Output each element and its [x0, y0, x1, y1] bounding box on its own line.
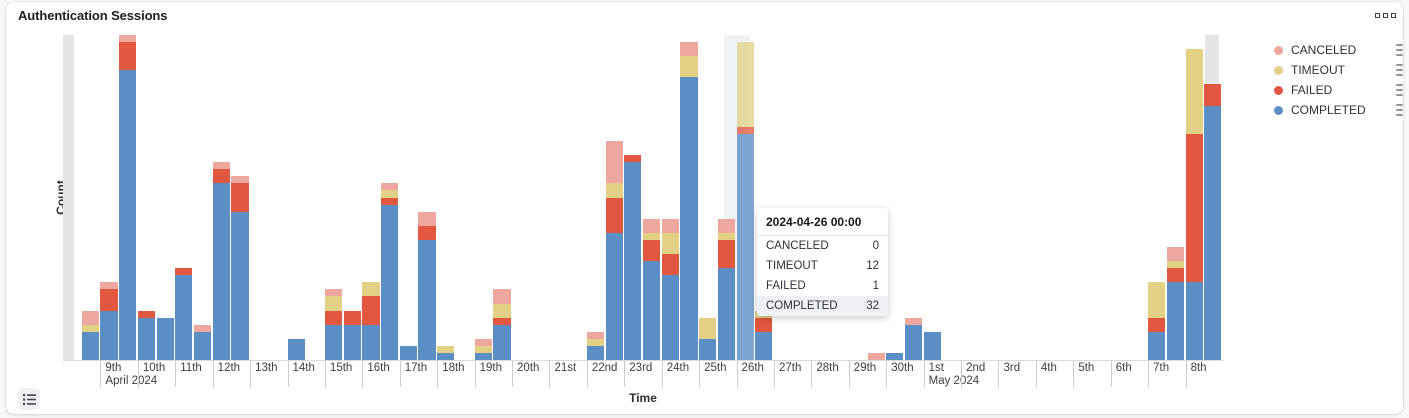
menu-square-1 — [1375, 13, 1380, 18]
bar-stack[interactable] — [624, 155, 641, 360]
bar-segment-failed — [643, 240, 660, 261]
x-tick-4th: 4th — [1036, 361, 1057, 387]
bar-segment-timeout — [381, 190, 398, 197]
x-tick-day: 2nd — [966, 361, 985, 375]
bar-segment-timeout — [493, 304, 510, 318]
x-axis-label: Time — [63, 391, 1223, 405]
bar-segment-completed — [1148, 332, 1165, 360]
bar-segment-canceled — [587, 332, 604, 339]
bar-segment-canceled — [418, 212, 435, 226]
bar-segment-timeout — [475, 346, 492, 353]
x-tick-day: 20th — [517, 361, 539, 375]
bar-segment-timeout — [587, 339, 604, 346]
bar-segment-failed — [755, 318, 772, 332]
bar-stack[interactable] — [699, 318, 716, 360]
x-tick-10th: 10th — [138, 361, 165, 387]
bar-stack[interactable] — [344, 311, 361, 360]
bar-stack[interactable] — [755, 311, 772, 360]
bar-segment-completed — [475, 353, 492, 360]
bar-stack[interactable] — [587, 332, 604, 360]
bar-segment-timeout — [737, 42, 754, 127]
x-tick-18th: 18th — [437, 361, 464, 387]
bar-segment-completed — [924, 332, 941, 360]
legend-item-failed[interactable]: FAILED — [1274, 80, 1403, 100]
tooltip-row-label: COMPLETED — [766, 298, 838, 314]
panel-menu-icon[interactable] — [1372, 6, 1398, 24]
bar-segment-canceled — [606, 141, 623, 183]
bar-segment-timeout — [718, 233, 735, 240]
bar-segment-failed — [175, 268, 192, 275]
bar-segment-completed — [587, 346, 604, 360]
bar-segment-failed — [1148, 318, 1165, 332]
legend-drag-handle-icon[interactable] — [1394, 104, 1403, 116]
x-tick-29th: 29th — [849, 361, 876, 387]
x-tick-day: 25th — [704, 361, 726, 375]
bar-segment-timeout — [1167, 261, 1184, 268]
bar-segment-completed — [157, 318, 174, 360]
bar-stack[interactable] — [905, 318, 922, 360]
bar-segment-completed — [493, 325, 510, 360]
bar-stack[interactable] — [886, 353, 903, 360]
x-tick-day: 13th — [255, 361, 277, 375]
bar-segment-completed — [100, 311, 117, 360]
x-tick-day: 5th — [1078, 361, 1094, 375]
bar-segment-canceled — [643, 219, 660, 233]
bar-segment-failed — [362, 296, 379, 324]
bar-segment-completed — [381, 205, 398, 360]
bar-segment-completed — [138, 318, 155, 360]
legend-color-dot — [1274, 66, 1283, 75]
x-tick-15th: 15th — [325, 361, 352, 387]
bar-stack[interactable] — [475, 339, 492, 360]
legend-item-label: TIMEOUT — [1291, 63, 1394, 77]
x-tick-day: 29th — [854, 361, 876, 375]
bar-segment-timeout — [362, 282, 379, 296]
x-tick-day: 18th — [442, 361, 464, 375]
bar-segment-canceled — [475, 339, 492, 346]
bar-segment-canceled — [493, 289, 510, 303]
bar-segment-completed — [119, 70, 136, 360]
x-tick-7th: 7th — [1148, 361, 1169, 387]
bar-segment-completed — [418, 240, 435, 360]
legend[interactable]: CANCELEDTIMEOUTFAILEDCOMPLETED — [1274, 40, 1403, 120]
bar-stack[interactable] — [868, 353, 885, 360]
bar-stack[interactable] — [138, 311, 155, 360]
bar-stack[interactable] — [213, 162, 230, 360]
x-tick-6th: 6th — [1111, 361, 1132, 387]
x-tick-23rd: 23rd — [624, 361, 652, 387]
x-tick-day: 16th — [367, 361, 389, 375]
bar-stack[interactable] — [400, 346, 417, 360]
bar-segment-timeout — [606, 183, 623, 197]
tooltip-row-canceled: CANCELED0 — [757, 236, 888, 256]
x-tick-12th: 12th — [213, 361, 240, 387]
x-tick-21st: 21st — [549, 361, 576, 387]
x-tick-3rd: 3rd — [998, 361, 1020, 387]
bar-segment-canceled — [100, 282, 117, 289]
x-tick-17th: 17th — [400, 361, 427, 387]
bar-segment-canceled — [662, 219, 679, 233]
menu-square-3 — [1391, 13, 1396, 18]
bar-stack[interactable] — [1204, 84, 1221, 360]
x-tick-day: 28th — [816, 361, 838, 375]
plot-area[interactable] — [63, 35, 1223, 360]
bar-stack[interactable] — [175, 268, 192, 360]
legend-drag-handle-icon[interactable] — [1394, 84, 1403, 96]
legend-item-canceled[interactable]: CANCELED — [1274, 40, 1403, 60]
legend-drag-handle-icon[interactable] — [1394, 44, 1403, 56]
x-tick-8th: 8th — [1186, 361, 1207, 387]
x-tick-day: 14th — [293, 361, 315, 375]
bar-segment-completed — [231, 212, 248, 360]
tooltip-row-completed: COMPLETED32 — [757, 296, 888, 316]
x-tick-5th: 5th — [1073, 361, 1094, 387]
bar-segment-failed — [138, 311, 155, 318]
bar-segment-completed — [1167, 282, 1184, 360]
tooltip-row-label: CANCELED — [766, 238, 829, 254]
bar-stack[interactable] — [606, 141, 623, 360]
bar-segment-failed — [1204, 84, 1221, 105]
bar-segment-canceled — [905, 318, 922, 325]
bar-segment-canceled — [325, 289, 342, 296]
bar-segment-completed — [662, 275, 679, 360]
bar-stack[interactable] — [662, 219, 679, 360]
x-tick-24th: 24th — [662, 361, 689, 387]
bar-segment-completed — [82, 332, 99, 360]
bar-segment-timeout — [643, 233, 660, 240]
x-tick-day: 4th — [1041, 361, 1057, 375]
x-tick-day: 8th — [1191, 361, 1207, 375]
x-tick-day: 21st — [554, 361, 576, 375]
bar-segment-canceled — [718, 219, 735, 233]
x-tick-20th: 20th — [512, 361, 539, 387]
x-tick-27th: 27th — [774, 361, 801, 387]
bar-stack[interactable] — [362, 282, 379, 360]
bar-segment-completed — [606, 233, 623, 360]
bar-stack[interactable] — [82, 311, 99, 360]
x-tick-day: 17th — [405, 361, 427, 375]
bar-segment-canceled — [231, 176, 248, 183]
tooltip-row-value: 32 — [866, 298, 879, 314]
bar-segment-failed — [1167, 268, 1184, 282]
bar-segment-completed — [288, 339, 305, 360]
tooltip-title: 2024-04-26 00:00 — [757, 208, 888, 236]
bar-segment-completed — [194, 332, 211, 360]
legend-item-completed[interactable]: COMPLETED — [1274, 100, 1403, 120]
bar-segment-completed — [680, 77, 697, 360]
left-no-data-band — [63, 35, 74, 360]
legend-color-dot — [1274, 86, 1283, 95]
legend-drag-handle-icon[interactable] — [1394, 64, 1403, 76]
bar-stack[interactable] — [437, 346, 454, 360]
bar-segment-completed — [362, 325, 379, 360]
tooltip-row-failed: FAILED1 — [757, 276, 888, 296]
x-tick-2nd: 2nd — [961, 361, 985, 387]
legend-item-label: FAILED — [1291, 83, 1394, 97]
bar-segment-failed — [325, 311, 342, 325]
tooltip-row-value: 1 — [873, 278, 879, 294]
bar-segment-canceled — [213, 162, 230, 169]
bar-stack[interactable] — [737, 42, 754, 360]
tooltip-row-value: 0 — [873, 238, 879, 254]
bar-segment-completed — [905, 325, 922, 360]
bar-segment-failed — [718, 240, 735, 268]
bar-segment-failed — [493, 318, 510, 325]
bar-segment-canceled — [194, 325, 211, 332]
bar-segment-timeout — [82, 325, 99, 332]
bar-segment-failed — [119, 42, 136, 70]
bar-segment-timeout — [325, 296, 342, 310]
bar-segment-completed — [400, 346, 417, 360]
panel-title: Authentication Sessions — [18, 8, 167, 23]
bar-segment-canceled — [119, 35, 136, 42]
x-tick-day: 10th — [143, 361, 165, 375]
x-tick-day: 24th — [667, 361, 689, 375]
bar-stack[interactable] — [418, 212, 435, 360]
bar-stack[interactable] — [194, 325, 211, 360]
bar-segment-completed — [325, 325, 342, 360]
legend-color-dot — [1274, 46, 1283, 55]
bar-segment-timeout — [1148, 282, 1165, 317]
bar-segment-completed — [699, 339, 716, 360]
bar-segment-completed — [643, 261, 660, 360]
x-tick-day: 30th — [891, 361, 913, 375]
menu-square-2 — [1383, 13, 1388, 18]
x-tick-28th: 28th — [811, 361, 838, 387]
bar-stack[interactable] — [680, 42, 697, 360]
x-tick-19th: 19th — [475, 361, 502, 387]
bar-segment-failed — [1186, 134, 1203, 282]
bar-segment-failed — [381, 198, 398, 205]
bar-stack[interactable] — [924, 332, 941, 360]
x-tick-13th: 13th — [250, 361, 277, 387]
x-tick-day: 6th — [1116, 361, 1132, 375]
x-tick-day: 22nd — [592, 361, 618, 375]
bar-segment-completed — [886, 353, 903, 360]
bar-segment-completed — [755, 332, 772, 360]
bar-segment-failed — [100, 289, 117, 310]
bar-segment-completed — [1186, 282, 1203, 360]
bar-stack[interactable] — [1167, 247, 1184, 360]
bar-segment-failed — [624, 155, 641, 162]
x-tick-day: 11th — [180, 361, 202, 375]
tooltip-row-label: FAILED — [766, 278, 806, 294]
x-tick-day: 7th — [1153, 361, 1169, 375]
x-tick-day: 27th — [779, 361, 801, 375]
bar-segment-canceled — [868, 353, 885, 360]
bar-segment-failed — [344, 311, 361, 325]
bar-segment-failed — [662, 254, 679, 275]
x-tick-22nd: 22nd — [587, 361, 618, 387]
x-tick-day: 23rd — [629, 361, 652, 375]
bar-segment-timeout — [1186, 49, 1203, 134]
bar-stack[interactable] — [119, 35, 136, 360]
x-tick-14th: 14th — [288, 361, 315, 387]
x-axis-ticks: 9thApril 202410th11th12th13th14th15th16t… — [63, 361, 1223, 393]
bar-stack[interactable] — [100, 282, 117, 360]
x-tick-day: 3rd — [1003, 361, 1020, 375]
tooltip-row-timeout: TIMEOUT12 — [757, 256, 888, 276]
bar-segment-failed — [231, 183, 248, 211]
tooltip-rows: CANCELED0TIMEOUT12FAILED1COMPLETED32 — [757, 236, 888, 316]
bar-stack[interactable] — [325, 289, 342, 360]
screenshot-root: Authentication Sessions Count 9thApril 2… — [0, 0, 1409, 418]
bar-segment-completed — [718, 268, 735, 360]
x-tick-day: 15th — [330, 361, 352, 375]
legend-color-dot — [1274, 106, 1283, 115]
list-view-icon[interactable] — [18, 388, 40, 410]
tooltip-row-label: TIMEOUT — [766, 258, 818, 274]
bar-segment-completed — [437, 353, 454, 360]
bar-segment-completed — [624, 162, 641, 360]
legend-item-label: COMPLETED — [1291, 103, 1394, 117]
bar-stack[interactable] — [157, 318, 174, 360]
x-tick-26th: 26th — [737, 361, 764, 387]
bar-segment-canceled — [1167, 247, 1184, 261]
bar-stack[interactable] — [1148, 282, 1165, 360]
bar-segment-completed — [344, 325, 361, 360]
bar-stack[interactable] — [1186, 49, 1203, 360]
bar-segment-canceled — [82, 311, 99, 325]
x-tick-16th: 16th — [362, 361, 389, 387]
bar-stack[interactable] — [288, 339, 305, 360]
bar-stack[interactable] — [231, 176, 248, 360]
x-tick-day: 19th — [480, 361, 502, 375]
bar-segment-failed — [213, 169, 230, 183]
y-axis-label-wrap: Count — [36, 35, 58, 360]
bar-segment-completed — [1204, 106, 1221, 360]
bar-segment-completed — [175, 275, 192, 360]
bar-stack[interactable] — [643, 219, 660, 360]
bar-stack[interactable] — [381, 183, 398, 360]
bar-segment-timeout — [437, 346, 454, 353]
bar-segment-canceled — [381, 183, 398, 190]
x-tick-30th: 30th — [886, 361, 913, 387]
chart-panel: Authentication Sessions Count 9thApril 2… — [6, 2, 1403, 414]
x-tick-25th: 25th — [699, 361, 726, 387]
bar-segment-failed — [418, 226, 435, 240]
tooltip: 2024-04-26 00:00 CANCELED0TIMEOUT12FAILE… — [757, 208, 888, 316]
bar-segment-completed — [213, 183, 230, 360]
legend-item-timeout[interactable]: TIMEOUT — [1274, 60, 1403, 80]
bar-segment-failed — [606, 198, 623, 233]
bar-segment-timeout — [680, 56, 697, 77]
bar-segment-canceled — [680, 42, 697, 56]
x-tick-day: 26th — [742, 361, 764, 375]
tooltip-row-value: 12 — [866, 258, 879, 274]
x-tick-11th: 11th — [175, 361, 202, 387]
bar-segment-completed — [737, 134, 754, 360]
bar-stack[interactable] — [493, 289, 510, 360]
bar-stack[interactable] — [718, 219, 735, 360]
x-tick-day: 12th — [218, 361, 240, 375]
bar-segment-failed — [737, 127, 754, 134]
bar-segment-timeout — [699, 318, 716, 339]
bar-segment-timeout — [662, 233, 679, 254]
legend-item-label: CANCELED — [1291, 43, 1394, 57]
